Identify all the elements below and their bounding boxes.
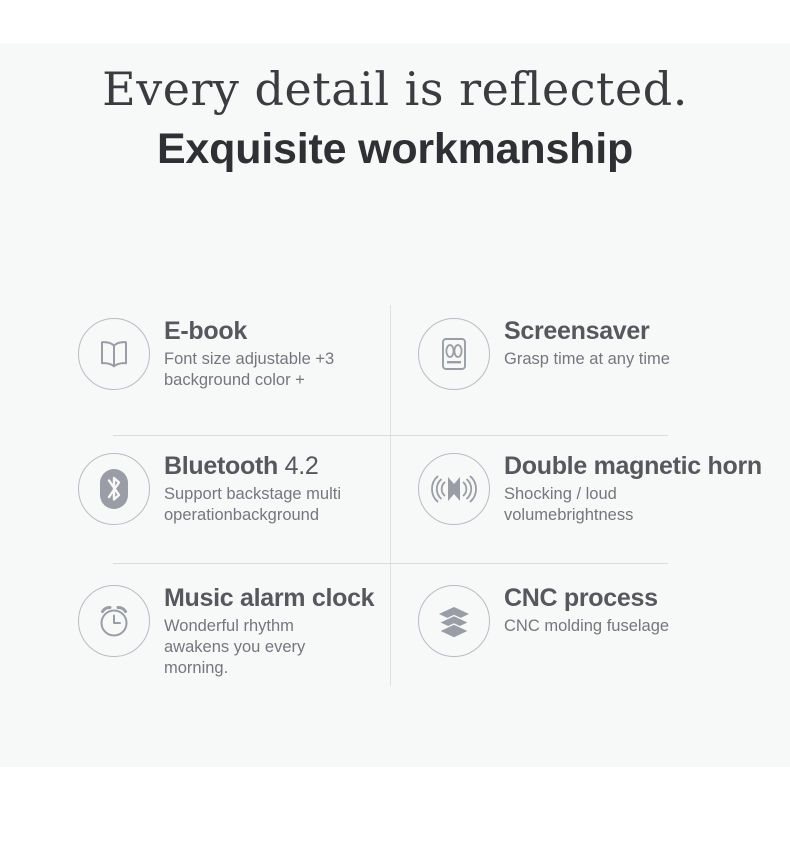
headline-block: Every detail is reflected. Exquisite wor… [0, 62, 790, 178]
feature-text-ebook: E-book Font size adjustable +3 backgroun… [150, 316, 334, 391]
open-book-icon [78, 318, 150, 390]
feature-cell-ebook: E-book Font size adjustable +3 backgroun… [62, 296, 392, 435]
feature-title-version: 4.2 [278, 452, 319, 480]
feature-text-alarm-clock: Music alarm clock Wonderful rhythm awake… [150, 583, 374, 679]
feature-row-1: E-book Font size adjustable +3 backgroun… [62, 296, 728, 435]
feature-description: Wonderful rhythm awakens you every morni… [164, 616, 374, 679]
feature-description: Font size adjustable +3 background color… [164, 349, 334, 391]
feature-cell-magnetic-horn: Double magnetic horn Shocking / loud vol… [392, 435, 728, 563]
feature-cell-cnc: CNC process CNC molding fuselage [392, 563, 728, 696]
feature-description: Shocking / loud volumebrightness [504, 484, 762, 526]
feature-row-2: Bluetooth 4.2 Support backstage multi op… [62, 435, 728, 563]
feature-title: Double magnetic horn [504, 453, 762, 481]
feature-title: CNC process [504, 585, 669, 613]
alarm-clock-icon [78, 585, 150, 657]
product-feature-page: Every detail is reflected. Exquisite wor… [0, 0, 790, 849]
feature-text-bluetooth: Bluetooth 4.2 Support backstage multi op… [150, 451, 341, 526]
feature-title: Bluetooth 4.2 [164, 453, 341, 481]
feature-title: Screensaver [504, 318, 670, 346]
screensaver-device-icon [418, 318, 490, 390]
feature-text-magnetic-horn: Double magnetic horn Shocking / loud vol… [490, 451, 762, 526]
feature-cell-bluetooth: Bluetooth 4.2 Support backstage multi op… [62, 435, 392, 563]
speaker-waves-icon [418, 453, 490, 525]
bluetooth-icon [78, 453, 150, 525]
feature-row-3: Music alarm clock Wonderful rhythm awake… [62, 563, 728, 696]
feature-cell-screensaver: Screensaver Grasp time at any time [392, 296, 728, 435]
feature-text-cnc: CNC process CNC molding fuselage [490, 583, 669, 637]
feature-description: CNC molding fuselage [504, 616, 669, 637]
feature-text-screensaver: Screensaver Grasp time at any time [490, 316, 670, 370]
feature-title-main: Bluetooth [164, 452, 278, 480]
feature-title: E-book [164, 318, 334, 346]
layers-stack-icon [418, 585, 490, 657]
headline-line-1: Every detail is reflected. [0, 62, 790, 116]
feature-title: Music alarm clock [164, 585, 374, 613]
feature-cell-alarm-clock: Music alarm clock Wonderful rhythm awake… [62, 563, 392, 696]
feature-grid: E-book Font size adjustable +3 backgroun… [62, 296, 728, 696]
feature-description: Grasp time at any time [504, 349, 670, 370]
feature-description: Support backstage multi operationbackgro… [164, 484, 341, 526]
headline-line-2: Exquisite workmanship [0, 122, 790, 178]
